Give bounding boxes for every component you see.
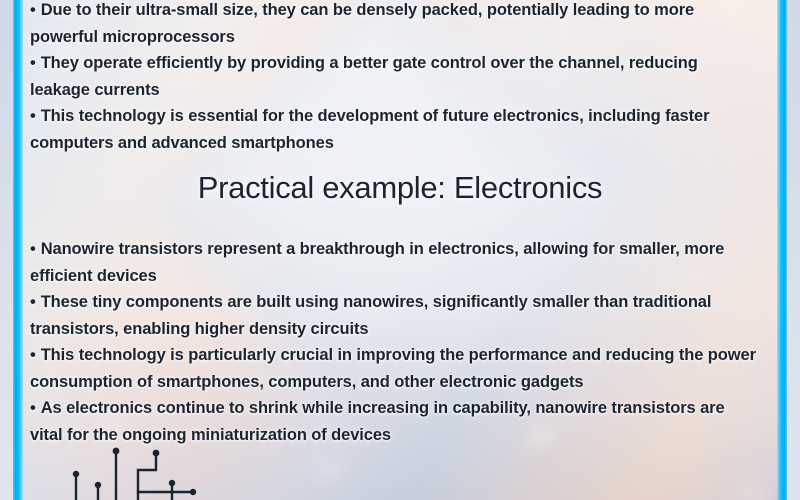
bullet-text: Nanowire transistors represent a breakth… — [30, 240, 724, 285]
right-accent-border — [777, 0, 787, 500]
list-item: •They operate efficiently by providing a… — [30, 50, 770, 103]
list-item: •This technology is essential for the de… — [30, 103, 770, 156]
list-item: •Due to their ultra-small size, they can… — [30, 0, 770, 50]
bullet-marker-icon: • — [30, 399, 36, 417]
bullet-text: This technology is particularly crucial … — [30, 346, 756, 391]
right-margin-pad — [787, 0, 800, 500]
list-item: •Nanowire transistors represent a breakt… — [30, 236, 770, 289]
top-bullet-list: •Due to their ultra-small size, they can… — [30, 0, 770, 156]
bottom-bullet-list: •Nanowire transistors represent a breakt… — [30, 236, 770, 448]
bullet-marker-icon: • — [30, 240, 36, 258]
list-item: •These tiny components are built using n… — [30, 289, 770, 342]
bullet-marker-icon: • — [30, 293, 36, 311]
bullet-marker-icon: • — [30, 1, 36, 19]
bullet-text: This technology is essential for the dev… — [30, 107, 709, 152]
left-margin-pad — [0, 0, 13, 500]
list-item: •As electronics continue to shrink while… — [30, 395, 770, 448]
infographic-slide: •Due to their ultra-small size, they can… — [0, 0, 800, 500]
bullet-text: These tiny components are built using na… — [30, 293, 711, 338]
page-title: Practical example: Electronics — [30, 168, 770, 208]
bullet-marker-icon: • — [30, 346, 36, 364]
bullet-marker-icon: • — [30, 107, 36, 125]
bullet-text: Due to their ultra-small size, they can … — [30, 1, 694, 46]
bullet-marker-icon: • — [30, 54, 36, 72]
left-accent-border — [13, 0, 23, 500]
bullet-text: As electronics continue to shrink while … — [30, 399, 725, 444]
bullet-text: They operate efficiently by providing a … — [30, 54, 698, 99]
list-item: •This technology is particularly crucial… — [30, 342, 770, 395]
slide-content: •Due to their ultra-small size, they can… — [30, 0, 770, 500]
